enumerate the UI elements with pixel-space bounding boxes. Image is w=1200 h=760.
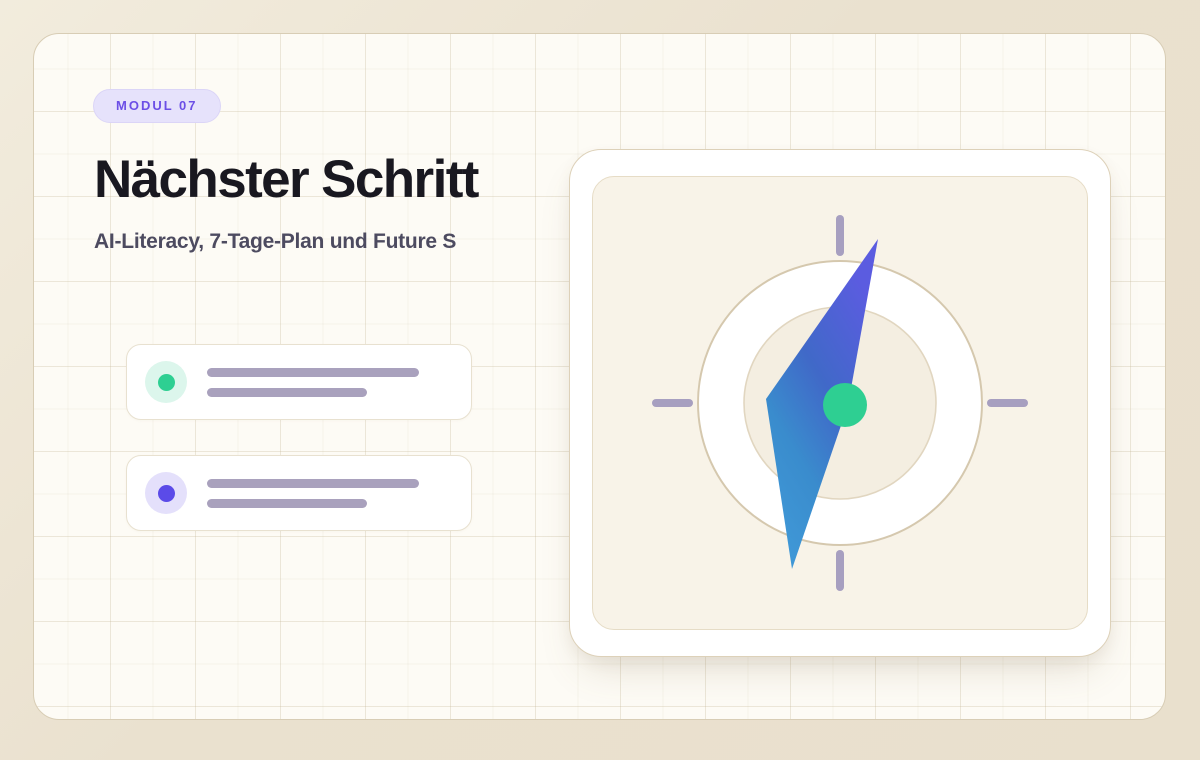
list-item[interactable]	[126, 455, 472, 531]
placeholder-bar	[207, 499, 367, 508]
page-subtitle: AI-Literacy, 7-Tage-Plan und Future S	[94, 230, 563, 254]
tick-north-icon	[836, 215, 844, 256]
status-dot-icon	[145, 472, 187, 514]
placeholder-lines	[207, 479, 419, 508]
tick-south-icon	[836, 550, 844, 591]
placeholder-lines	[207, 368, 419, 397]
compass-icon	[640, 203, 1040, 603]
header-block: MODUL 07 Nächster Schritt AI-Literacy, 7…	[93, 89, 563, 254]
placeholder-bar	[207, 388, 367, 397]
slide-stage: MODUL 07 Nächster Schritt AI-Literacy, 7…	[0, 0, 1200, 760]
compass-hub	[823, 383, 867, 427]
compass-panel	[592, 176, 1088, 630]
list-item[interactable]	[126, 344, 472, 420]
module-badge: MODUL 07	[93, 89, 221, 123]
placeholder-bar	[207, 368, 419, 377]
bullet-list	[126, 344, 472, 531]
placeholder-bar	[207, 479, 419, 488]
tick-west-icon	[652, 399, 693, 407]
slide-card: MODUL 07 Nächster Schritt AI-Literacy, 7…	[33, 33, 1166, 720]
page-title: Nächster Schritt	[94, 152, 563, 208]
compass-card	[569, 149, 1111, 657]
tick-east-icon	[987, 399, 1028, 407]
status-dot-icon	[145, 361, 187, 403]
